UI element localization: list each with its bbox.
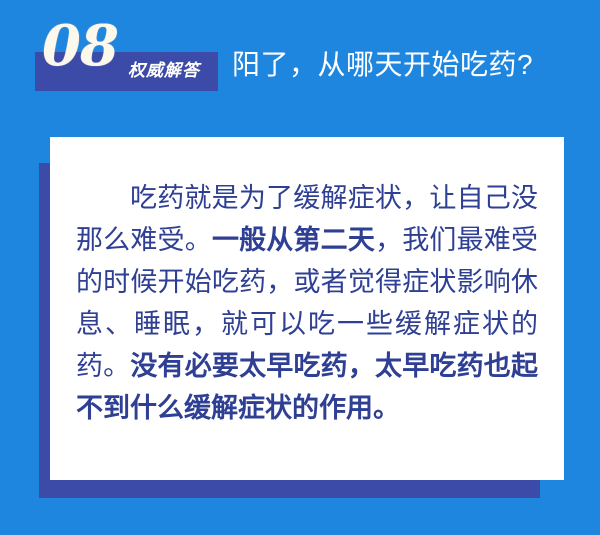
body-text-emphasis: 一般从第二天 [212, 225, 375, 255]
body-paragraph: 吃药就是为了缓解症状，让自己没那么难受。一般从第二天，我们最难受的时候开始吃药，… [76, 177, 538, 429]
content-card: 吃药就是为了缓解症状，让自己没那么难受。一般从第二天，我们最难受的时候开始吃药，… [50, 137, 564, 480]
body-text-emphasis: 没有必要太早吃药，太早吃药也起不到什么缓解症状的作用。 [76, 351, 538, 423]
card-body: 吃药就是为了缓解症状，让自己没那么难受。一般从第二天，我们最难受的时候开始吃药，… [76, 177, 538, 429]
poster-root: 08 权威解答 阳了，从哪天开始吃药? 吃药就是为了缓解症状，让自己没那么难受。… [0, 0, 600, 535]
page-title: 阳了，从哪天开始吃药? [232, 48, 533, 82]
badge-label: 权威解答 [128, 61, 200, 81]
badge-number: 08 [42, 16, 118, 76]
poster-header: 08 权威解答 阳了，从哪天开始吃药? [0, 0, 600, 130]
